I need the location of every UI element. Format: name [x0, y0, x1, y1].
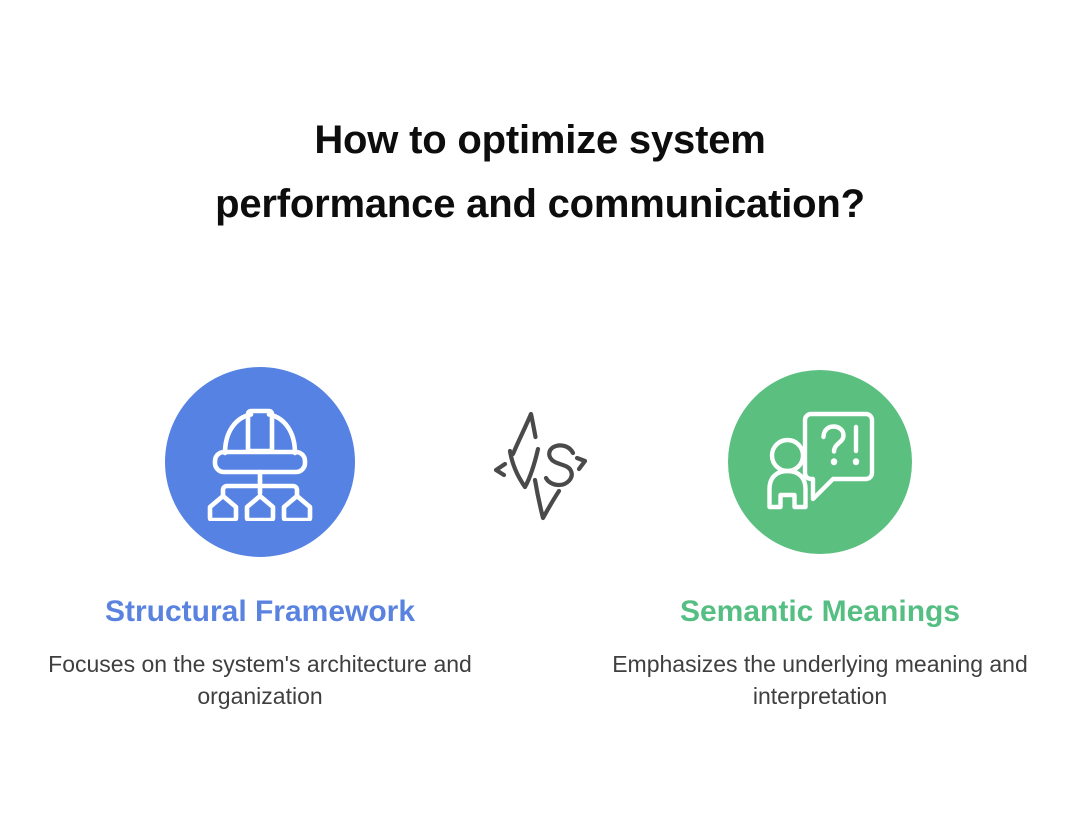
- comparison-row: Structural Framework Focuses on the syst…: [0, 362, 1080, 722]
- left-description: Focuses on the system's architecture and…: [20, 648, 500, 712]
- comparison-item-semantic-meanings: Semantic Meanings Emphasizes the underly…: [580, 362, 1060, 712]
- person-speech-bubble-icon: [761, 403, 879, 521]
- hard-hat-hierarchy-icon: [199, 403, 321, 521]
- comparison-slide: How to optimize system performance and c…: [0, 0, 1080, 819]
- right-description: Emphasizes the underlying meaning and in…: [580, 648, 1060, 712]
- left-icon-circle: [165, 367, 355, 557]
- left-heading: Structural Framework: [20, 594, 500, 630]
- right-icon-container: [580, 362, 1060, 562]
- page-title: How to optimize system performance and c…: [0, 108, 1080, 236]
- title-line-2: performance and communication?: [0, 172, 1080, 236]
- vs-sparkle-icon: [480, 392, 600, 532]
- comparison-item-structural-framework: Structural Framework Focuses on the syst…: [20, 362, 500, 712]
- right-icon-circle: [728, 370, 912, 554]
- right-heading: Semantic Meanings: [580, 594, 1060, 630]
- left-icon-container: [20, 362, 500, 562]
- title-line-1: How to optimize system: [0, 108, 1080, 172]
